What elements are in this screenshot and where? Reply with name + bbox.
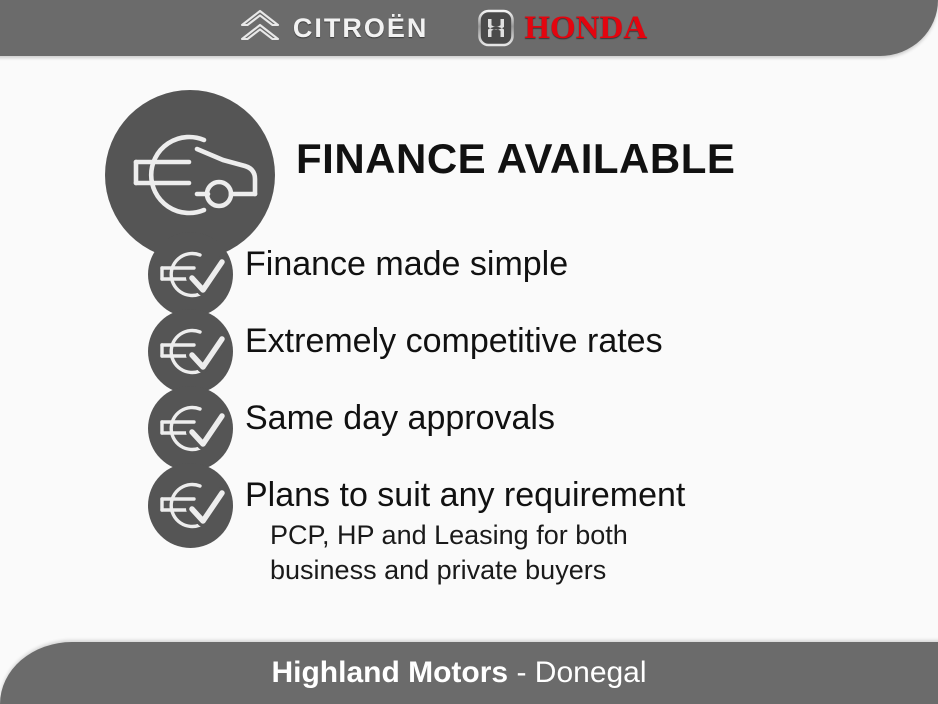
page-title: FINANCE AVAILABLE — [296, 138, 735, 180]
euro-check-icon — [148, 309, 233, 394]
euro-check-icon — [148, 463, 233, 548]
finance-products-note: PCP, HP and Leasing for both business an… — [270, 518, 628, 587]
citroen-double-chevron-icon — [237, 8, 283, 48]
citroen-wordmark: CITROËN — [293, 15, 429, 42]
brand-header-bar: CITROËN — [0, 0, 938, 56]
brand-logo-row: CITROËN — [237, 8, 647, 48]
main-content: FINANCE AVAILABLE — [0, 56, 938, 642]
dealer-identity: Highland Motors - Donegal — [271, 658, 646, 688]
list-item-label: Plans to suit any requirement — [245, 475, 685, 515]
honda-wordmark: HONDA — [524, 12, 647, 45]
euro-check-icon — [148, 232, 233, 317]
citroen-logo: CITROËN — [237, 8, 429, 48]
list-item-label: Extremely competitive rates — [245, 321, 663, 361]
benefit-list: Finance made simple — [0, 232, 938, 540]
list-item: Finance made simple — [0, 232, 938, 309]
dealer-separator: - — [508, 656, 535, 689]
list-item-label: Finance made simple — [245, 244, 568, 284]
euro-check-icon — [148, 386, 233, 471]
list-item: Same day approvals — [0, 386, 938, 463]
dealer-footer-bar: Highland Motors - Donegal — [0, 642, 938, 704]
list-item-label: Same day approvals — [245, 398, 555, 438]
dealer-name: Highland Motors — [271, 656, 508, 689]
dealer-location: Donegal — [535, 656, 647, 689]
finance-products-note-line1: PCP, HP and Leasing for both — [270, 518, 628, 553]
honda-h-emblem-icon — [476, 8, 516, 48]
finance-products-note-line2: business and private buyers — [270, 553, 628, 588]
advert-page: CITROËN — [0, 0, 938, 704]
list-item: Extremely competitive rates — [0, 309, 938, 386]
honda-logo: HONDA — [476, 8, 647, 48]
